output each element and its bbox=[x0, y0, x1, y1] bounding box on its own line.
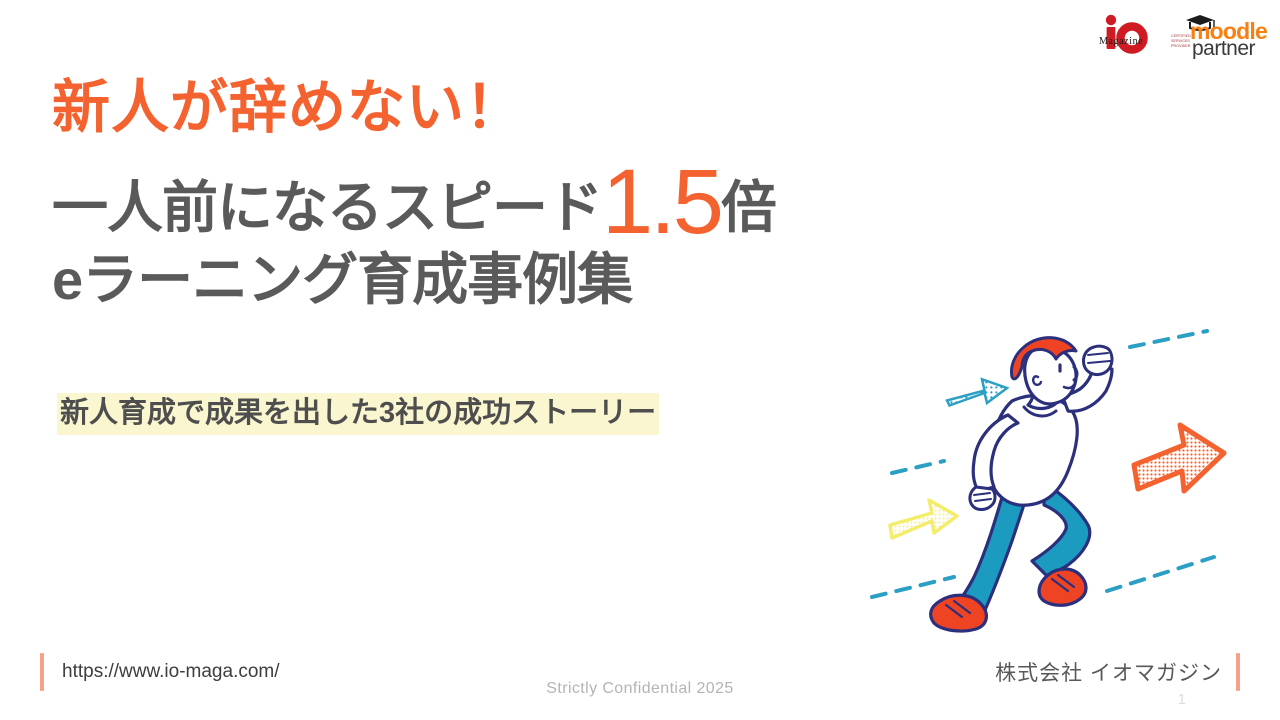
logo-block: Magazine moodle partner CERTIFIED SERVIC… bbox=[1096, 8, 1272, 60]
subtitle-highlight: 新人育成で成果を出した3社の成功ストーリー bbox=[57, 393, 659, 435]
headline-line-2: 一人前になるスピード 1.5 倍 bbox=[52, 157, 882, 236]
svg-text:PROVIDER: PROVIDER bbox=[1171, 44, 1191, 48]
headline-block: 新人が辞めない！ 一人前になるスピード 1.5 倍 eラーニング育成事例集 bbox=[52, 78, 882, 308]
person-figure bbox=[931, 338, 1112, 631]
svg-text:CERTIFIED: CERTIFIED bbox=[1171, 34, 1191, 38]
io-magazine-logo: Magazine bbox=[1096, 11, 1164, 57]
teal-arrow-icon bbox=[947, 379, 1007, 405]
slide-root: Magazine moodle partner CERTIFIED SERVIC… bbox=[0, 0, 1280, 720]
svg-text:SERVICES: SERVICES bbox=[1171, 39, 1190, 43]
right-accent-bar bbox=[1236, 653, 1240, 691]
yellow-arrow-icon bbox=[890, 500, 957, 538]
headline-line-2-prefix: 一人前になるスピード bbox=[52, 180, 602, 236]
footer-company-block: 株式会社 イオマガジン bbox=[995, 652, 1240, 692]
page-number: 1 bbox=[1178, 691, 1186, 708]
running-person-illustration bbox=[862, 325, 1280, 635]
svg-text:Magazine: Magazine bbox=[1099, 36, 1143, 47]
orange-arrow-icon bbox=[1134, 425, 1224, 491]
headline-line-3: eラーニング育成事例集 bbox=[52, 252, 882, 308]
company-name: 株式会社 イオマガジン bbox=[995, 657, 1222, 687]
headline-speed-multiplier: 1.5 bbox=[602, 163, 721, 241]
svg-text:partner: partner bbox=[1192, 37, 1256, 59]
moodle-partner-logo: moodle partner CERTIFIED SERVICES PROVID… bbox=[1170, 9, 1272, 59]
headline-line-2-suffix: 倍 bbox=[721, 180, 777, 236]
headline-line-1: 新人が辞めない！ bbox=[52, 78, 882, 139]
